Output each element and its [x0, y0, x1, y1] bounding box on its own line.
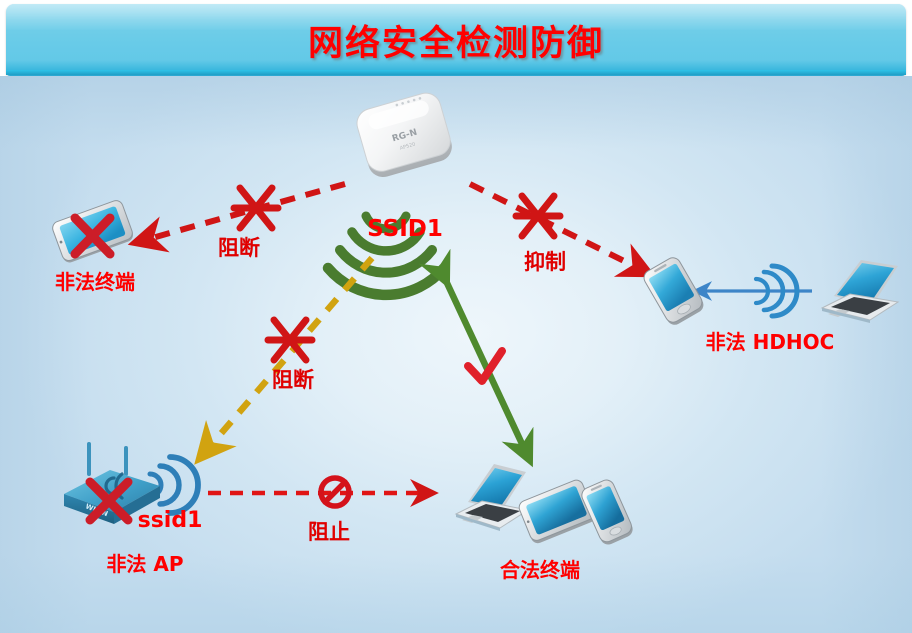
access-point-icon: RG-N AP520 [340, 82, 470, 192]
legal-terminals-caption: 合法终端 [440, 554, 640, 583]
illegal-terminal-caption: 非法终端 [10, 266, 180, 295]
adhoc-smartphone-device[interactable] [636, 254, 710, 326]
x-mark-icon-block-terminal [234, 188, 278, 228]
edge-block-rogue-ap [212, 258, 372, 444]
edge-allow-legal-terminals [440, 268, 523, 446]
x-mark-icon-block-rogue-ap [268, 320, 312, 360]
network-diagram-canvas: RG-N AP520 SSID1 [0, 76, 912, 633]
edge-label-suppress-adhoc: 抑制 [524, 246, 566, 276]
tablet-icon [48, 196, 138, 268]
adhoc-caption: 非法 HDHOC [640, 326, 900, 355]
edge-block-illegal-terminal [152, 184, 345, 238]
edge-label-block-illegal-terminal: 阻断 [218, 232, 260, 262]
ssid1-label: SSID1 [330, 216, 480, 242]
page-title: 网络安全检测防御 [0, 15, 912, 66]
x-mark-icon-suppress-adhoc [516, 196, 560, 236]
rogue-ap-ssid-label: ssid1 [110, 508, 230, 533]
edge-label-prevent-rogue-to-legal: 阻止 [308, 516, 350, 546]
legal-terminals-group[interactable] [452, 458, 642, 554]
controller-ap-device[interactable]: RG-N AP520 [340, 82, 470, 192]
legal-devices-icon [452, 458, 642, 554]
illegal-terminal-device[interactable] [48, 196, 138, 268]
banner-underline [6, 70, 906, 75]
legal-tablet-icon [517, 478, 597, 545]
legal-laptop-icon [456, 464, 528, 531]
smartphone-icon [636, 254, 710, 326]
screenshot-root: 网络安全检测防御 [0, 0, 912, 633]
edge-label-block-rogue-ap: 阻断 [272, 364, 314, 394]
edge-prevent-rogue-to-legal [208, 478, 420, 506]
rogue-ap-caption: 非法 AP [60, 548, 230, 577]
laptop-icon [814, 252, 904, 328]
adhoc-laptop-device[interactable] [814, 252, 904, 328]
adhoc-wireless-link [705, 266, 812, 316]
